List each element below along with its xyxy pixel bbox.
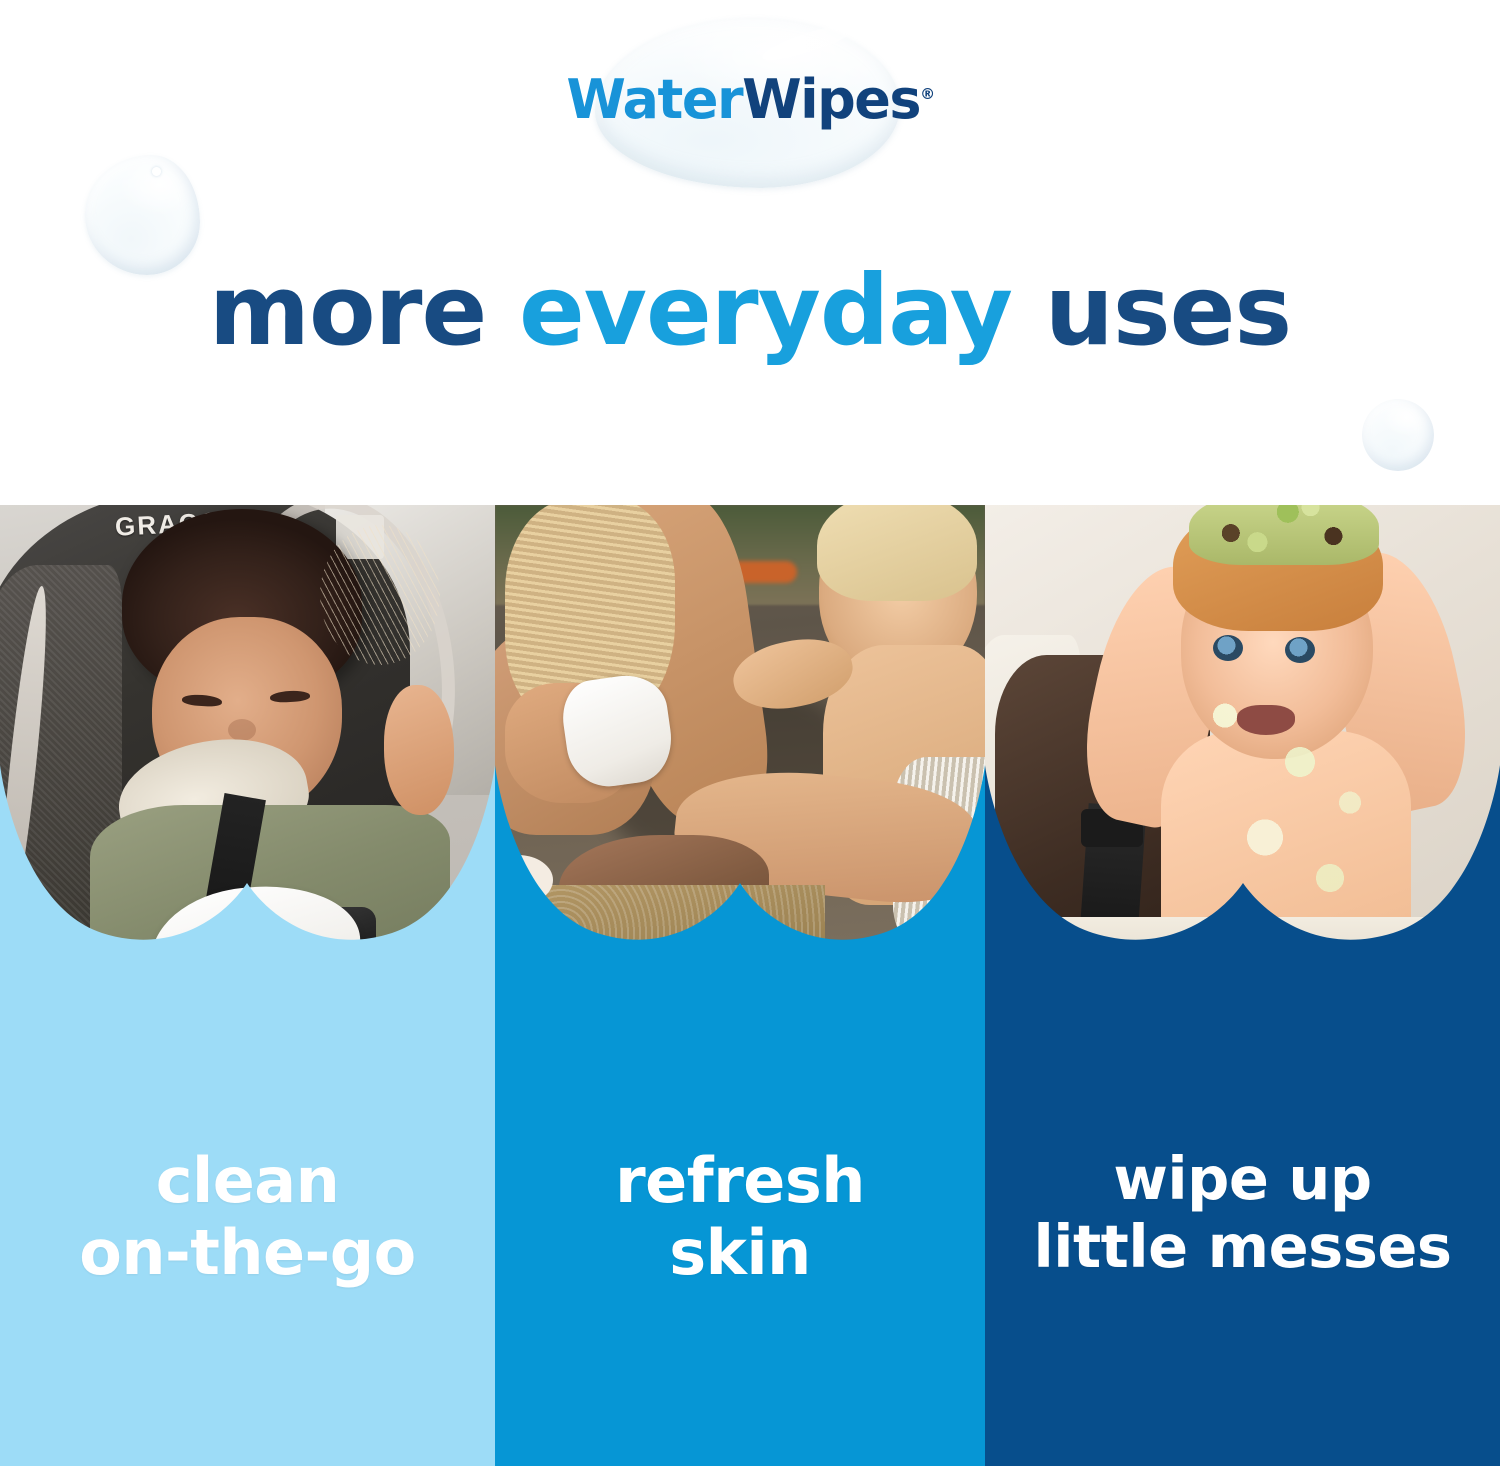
brand-logo-text: WaterWipes®	[565, 73, 935, 127]
panel-wipe-up-little-messes: wipe up little messes	[985, 505, 1500, 1466]
panel-2-photo	[495, 505, 985, 975]
panel-3-caption: wipe up little messes	[985, 1145, 1500, 1282]
photo-toddler-car-seat: GRACO	[0, 505, 495, 975]
headline-word-everyday: everyday	[519, 254, 1045, 367]
brand-logo: WaterWipes®	[565, 18, 935, 198]
waterwipes-everyday-uses-banner: WaterWipes® more everyday uses GRACO	[0, 0, 1500, 1466]
brand-logo-water: Water	[566, 68, 742, 131]
water-droplet-icon	[85, 155, 200, 275]
page-title: more everyday uses	[0, 262, 1500, 359]
child-hair	[817, 505, 977, 601]
use-case-panels: GRACO	[0, 505, 1500, 1466]
panel-refresh-skin: refresh skin	[495, 505, 985, 1466]
registered-trademark-icon: ®	[920, 85, 934, 103]
baby-eye-right	[1285, 637, 1315, 663]
panel-1-photo: GRACO	[0, 505, 495, 975]
panel-3-photo	[985, 505, 1500, 975]
highchair-tray	[1015, 917, 1475, 975]
headline-word-uses: uses	[1045, 254, 1291, 367]
headline-word-more: more	[209, 254, 519, 367]
toddler-hand	[384, 685, 454, 815]
water-droplet-small-icon	[1362, 399, 1434, 471]
photo-messy-baby-highchair	[985, 505, 1500, 975]
photo-beach-wiping-foot	[495, 505, 985, 975]
toddler-nose	[228, 719, 256, 741]
food-on-head	[1189, 505, 1379, 565]
panel-clean-on-the-go: GRACO	[0, 505, 495, 1466]
header-section: WaterWipes® more everyday uses	[0, 0, 1500, 505]
panel-1-caption: clean on-the-go	[0, 1145, 495, 1289]
brand-logo-wipes: Wipes	[742, 68, 920, 131]
baby-eye-left	[1213, 635, 1243, 661]
panel-2-caption: refresh skin	[495, 1145, 985, 1289]
toddler-flyaway-hair	[320, 525, 440, 665]
